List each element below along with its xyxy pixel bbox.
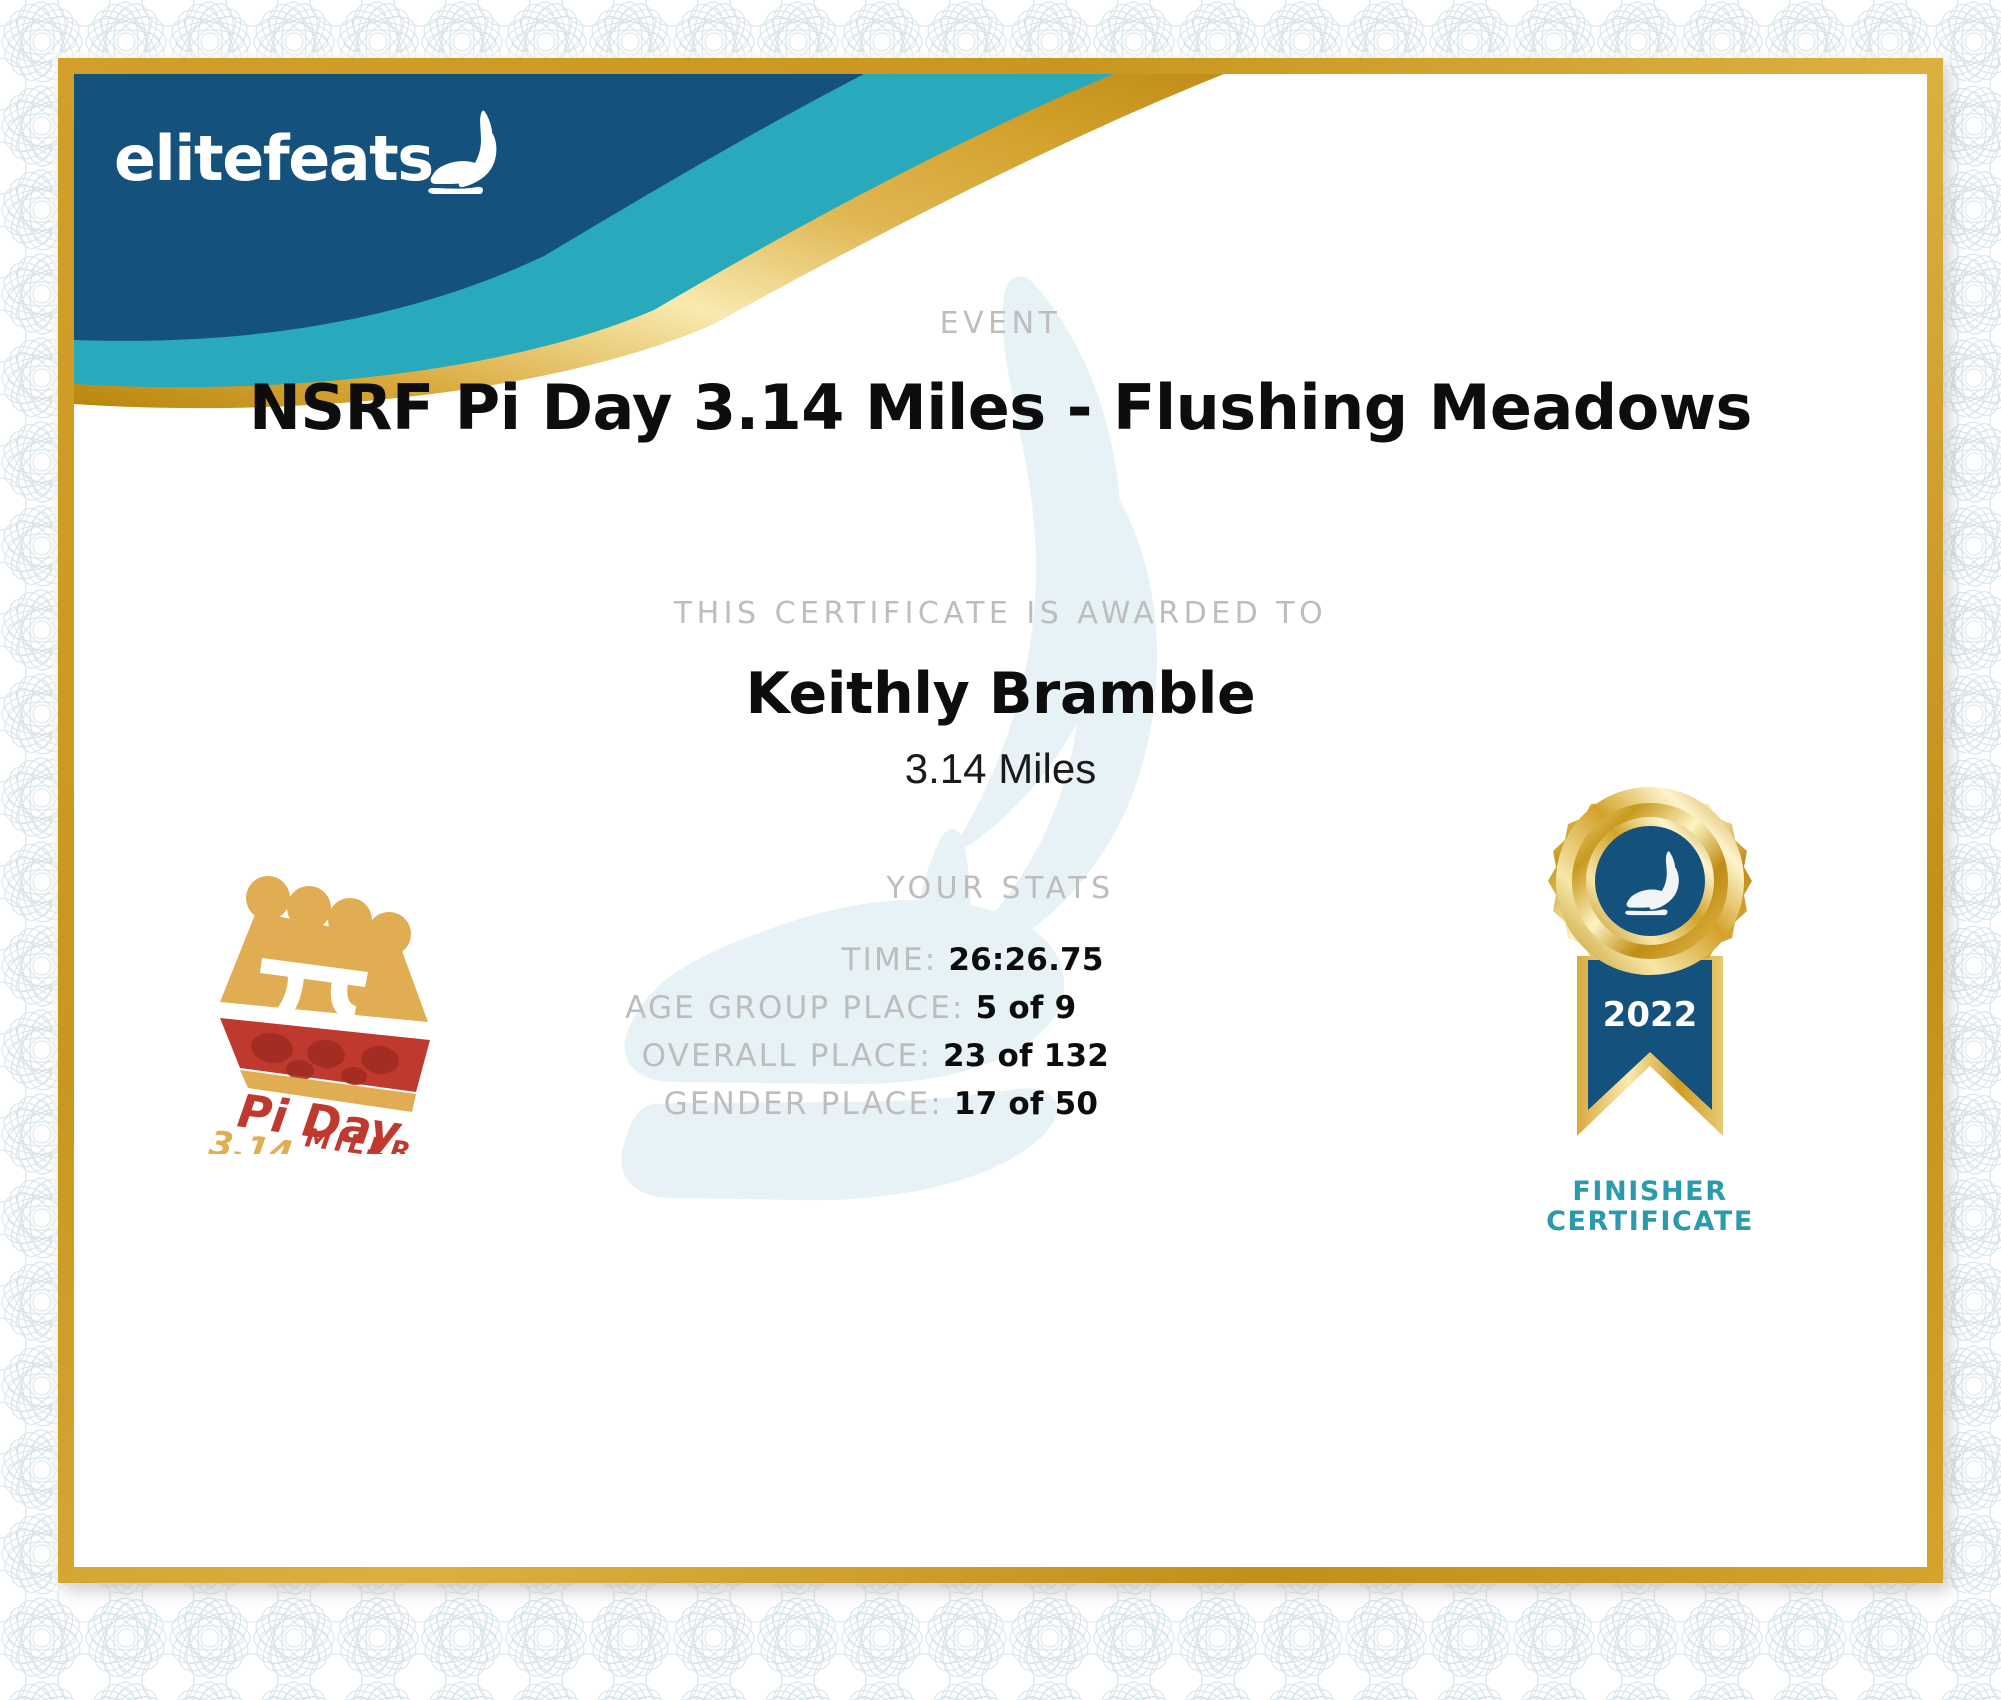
event-kicker-label: EVENT: [74, 306, 1927, 341]
winged-foot-icon: [427, 110, 505, 194]
stat-value: 26:26.75: [948, 942, 1103, 978]
stat-label: GENDER PLACE:: [603, 1086, 943, 1122]
certificate-page: elitefeats EVENT NSRF Pi Day 3.14 Miles …: [0, 0, 2001, 1700]
medal-year: 2022: [1603, 995, 1698, 1035]
medal-graphic: 2022: [1505, 784, 1795, 1164]
stat-value: 5 of 9: [976, 990, 1077, 1026]
finisher-medal-badge: 2022: [1505, 784, 1795, 1237]
gold-border-frame: elitefeats EVENT NSRF Pi Day 3.14 Miles …: [58, 58, 1943, 1583]
elitefeats-logo: elitefeats: [114, 124, 505, 194]
certificate-body: elitefeats EVENT NSRF Pi Day 3.14 Miles …: [74, 74, 1927, 1567]
stat-label: TIME:: [597, 942, 937, 978]
medal-caption: FINISHER CERTIFICATE: [1505, 1177, 1795, 1237]
stat-value: 17 of 50: [954, 1086, 1098, 1122]
recipient-name: Keithly Bramble: [74, 661, 1927, 727]
elitefeats-wordmark: elitefeats: [114, 128, 433, 190]
awarded-to-kicker-label: THIS CERTIFICATE IS AWARDED TO: [74, 596, 1927, 631]
stat-value: 23 of 132: [943, 1038, 1109, 1074]
stat-label: OVERALL PLACE:: [592, 1038, 932, 1074]
event-title: NSRF Pi Day 3.14 Miles - Flushing Meadow…: [74, 371, 1927, 444]
pi-day-miler-logo: Pi Day 3.14 MILER: [184, 854, 464, 1154]
medal-caption-line1: FINISHER: [1505, 1177, 1795, 1207]
stat-label: AGE GROUP PLACE:: [625, 990, 965, 1026]
medal-caption-line2: CERTIFICATE: [1505, 1207, 1795, 1237]
